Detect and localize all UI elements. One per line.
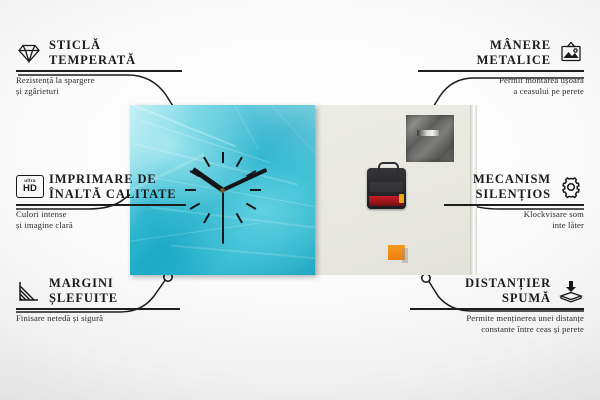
diamond-icon	[16, 41, 42, 65]
callout-foam-spacer: DISTANȚIER SPUMĂ Permite menținerea unei…	[410, 276, 584, 335]
ultra-hd-icon: ultra HD	[16, 175, 42, 199]
callout-rule	[16, 70, 182, 72]
callout-title: MÂNERE METALICE	[477, 38, 551, 67]
callout-subtitle: Klockvisare som inte låter	[444, 209, 584, 231]
callout-subtitle: Rezistență la spargere și zgârieturi	[16, 75, 186, 97]
callout-subtitle: Permite menținerea unei distanțe constan…	[410, 313, 584, 335]
callout-rule	[16, 308, 180, 310]
callout-polished-edges: MARGINI ȘLEFUITE Finisare netedă și sigu…	[16, 276, 188, 324]
callout-title: MARGINI ȘLEFUITE	[49, 276, 118, 305]
callout-subtitle: Permit montarea ușoară a ceasului pe per…	[418, 75, 584, 97]
callout-rule	[16, 204, 186, 206]
callout-silent-mechanism: MECANISM SILENȚIOS Klockvisare som inte …	[444, 172, 584, 231]
callout-metal-handles: MÂNERE METALICE Permit montarea ușoară a…	[418, 38, 584, 97]
callout-subtitle: Culori intense și imagine clară	[16, 209, 198, 231]
polished-edge-icon	[16, 279, 42, 303]
hanging-frame-icon	[558, 41, 584, 65]
callout-title: IMPRIMARE DE ÎNALTĂ CALITATE	[49, 172, 177, 201]
battery-tip	[399, 194, 404, 203]
callout-rule	[444, 204, 584, 206]
hanger-slot	[417, 130, 439, 136]
hand-pin	[220, 188, 225, 193]
callout-title: STICLĂ TEMPERATĂ	[49, 38, 136, 67]
callout-tempered-glass: STICLĂ TEMPERATĂ Rezistență la spargere …	[16, 38, 186, 97]
press-pad-icon	[558, 279, 584, 303]
infographic-canvas: STICLĂ TEMPERATĂ Rezistență la spargere …	[0, 0, 600, 400]
battery	[369, 196, 404, 206]
callout-subtitle: Finisare netedă și sigură	[16, 313, 188, 324]
movement-band	[370, 182, 403, 192]
callout-print-quality: ultra HD IMPRIMARE DE ÎNALTĂ CALITATE Cu…	[16, 172, 198, 231]
gear-icon	[558, 175, 584, 199]
callout-title: DISTANȚIER SPUMĂ	[465, 276, 551, 305]
second-hand	[222, 190, 224, 244]
callout-rule	[418, 70, 584, 72]
callout-rule	[410, 308, 584, 310]
clock-movement-box	[367, 168, 406, 209]
foam-spacer-pad	[388, 245, 405, 260]
movement-hook	[378, 162, 399, 172]
callout-title: MECANISM SILENȚIOS	[473, 172, 551, 201]
metal-hanger-plate	[406, 115, 454, 162]
